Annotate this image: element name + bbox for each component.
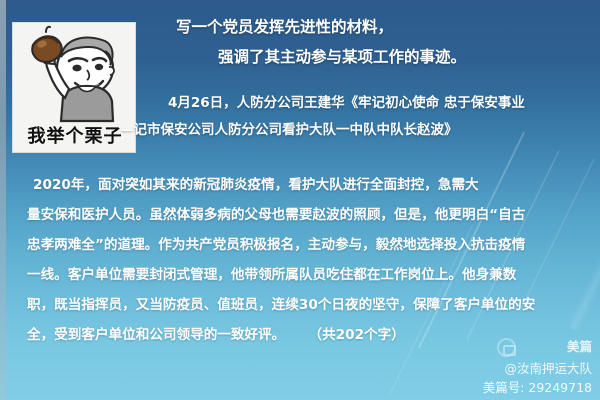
headline-line-1: 写一个党员发挥先进性的材料， (150, 12, 600, 42)
headline-block: 写一个党员发挥先进性的材料， 强调了其主动参与某项工作的事迹。 (150, 12, 600, 72)
chestnut-meme-illustration (13, 23, 136, 123)
meipian-id-watermark: 美篇号: 29249718 (483, 377, 592, 396)
body-line: 职，既当指挥员，又当防疫员、值班员，连续30个日夜的坚守，保障了客户单位的安 (27, 290, 583, 320)
headline-line-2: 强调了其主动参与某项工作的事迹。 (150, 42, 600, 72)
image-canvas: 我举个栗子 写一个党员发挥先进性的材料， 强调了其主动参与某项工作的事迹。 4月… (0, 0, 600, 400)
brand-watermark: 美篇 (567, 336, 592, 355)
body-line: 量安保和医护人员。虽然体弱多病的父母也需要赵波的照顾，但是，他更明白“自古 (27, 200, 583, 230)
article-title-line-1: 4月26日，人防分公司王建华《牢记初心使命 忠于保安事业 (120, 90, 600, 117)
left-edge-strip (0, 0, 6, 400)
meipian-logo-icon (497, 338, 516, 357)
character-count-note: （共202个字） (285, 327, 405, 343)
meme-image-card: 我举个栗子 (12, 22, 136, 153)
body-line: 忠孝两难全”的道理。作为共产党员积极报名，主动参与，毅然地选择投入抗击疫情 (27, 230, 583, 260)
body-line: 一线。客户单位需要封闭式管理，他带领所属队员吃住都在工作岗位上。他身兼数 (27, 260, 583, 290)
body-paragraph: 2020年，面对突如其来的新冠肺炎疫情，看护大队进行全面封控，急需大 量安保和医… (27, 170, 583, 350)
body-line: 2020年，面对突如其来的新冠肺炎疫情，看护大队进行全面封控，急需大 (27, 170, 583, 200)
account-handle-watermark: @汝南押运大队 (504, 358, 592, 377)
body-line: 全，受到客户单位和公司领导的一致好评。 (27, 327, 285, 343)
article-title-line-2: —记市保安公司人防分公司看护大队一中队中队长赵波》 (120, 117, 600, 144)
article-title-block: 4月26日，人防分公司王建华《牢记初心使命 忠于保安事业 —记市保安公司人防分公… (120, 90, 600, 144)
meme-caption-text: 我举个栗子 (13, 122, 136, 148)
